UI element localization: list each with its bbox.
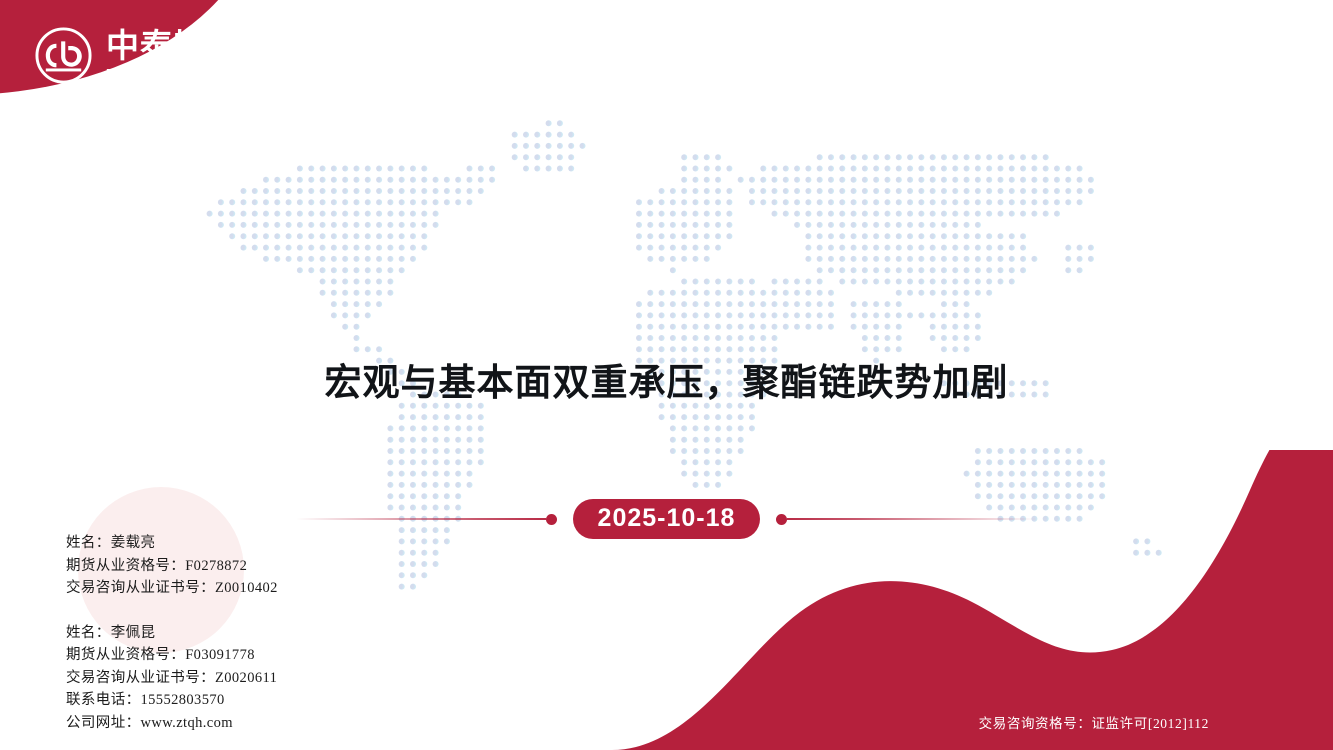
author2-consulting-license: 交易咨询从业证书号：Z0020611 bbox=[66, 667, 278, 690]
date-dot-left bbox=[546, 514, 557, 525]
date-dot-right bbox=[776, 514, 787, 525]
date-line-right bbox=[787, 518, 1037, 520]
footer-qualification-note: 交易咨询资格号：证监许可[2012]112 bbox=[979, 712, 1209, 732]
author-block-spacer bbox=[66, 600, 278, 622]
date-badge: 2025-10-18 bbox=[573, 499, 761, 540]
date-line-left bbox=[296, 518, 546, 520]
author1-consulting-license: 交易咨询从业证书号：Z0010402 bbox=[66, 577, 278, 600]
logo-mark-icon bbox=[34, 26, 93, 85]
author2-website: 公司网址：www.ztqh.com bbox=[66, 712, 278, 735]
presentation-slide: 中泰期货 ZHONGTAI FUTURES 宏观与基本面双重承压，聚酯链跌势加剧… bbox=[0, 0, 1333, 750]
logo-chinese-name: 中泰期货 bbox=[106, 29, 265, 64]
author2-phone: 联系电话：15552803570 bbox=[66, 689, 278, 712]
author2-futures-license: 期货从业资格号：F03091778 bbox=[66, 644, 278, 667]
author-block-1: 姓名：姜载亮 期货从业资格号：F0278872 交易咨询从业证书号：Z00104… bbox=[66, 532, 278, 600]
company-logo: 中泰期货 ZHONGTAI FUTURES bbox=[34, 26, 265, 85]
slide-title: 宏观与基本面双重承压，聚酯链跌势加剧 bbox=[0, 352, 1333, 406]
author1-futures-license: 期货从业资格号：F0278872 bbox=[66, 555, 278, 578]
author-credentials: 姓名：姜载亮 期货从业资格号：F0278872 交易咨询从业证书号：Z00104… bbox=[66, 532, 278, 734]
date-row: 2025-10-18 bbox=[0, 498, 1333, 540]
author-block-2: 姓名：李佩昆 期货从业资格号：F03091778 交易咨询从业证书号：Z0020… bbox=[66, 622, 278, 735]
author2-name: 姓名：李佩昆 bbox=[66, 622, 278, 645]
logo-english-name: ZHONGTAI FUTURES bbox=[106, 66, 265, 82]
